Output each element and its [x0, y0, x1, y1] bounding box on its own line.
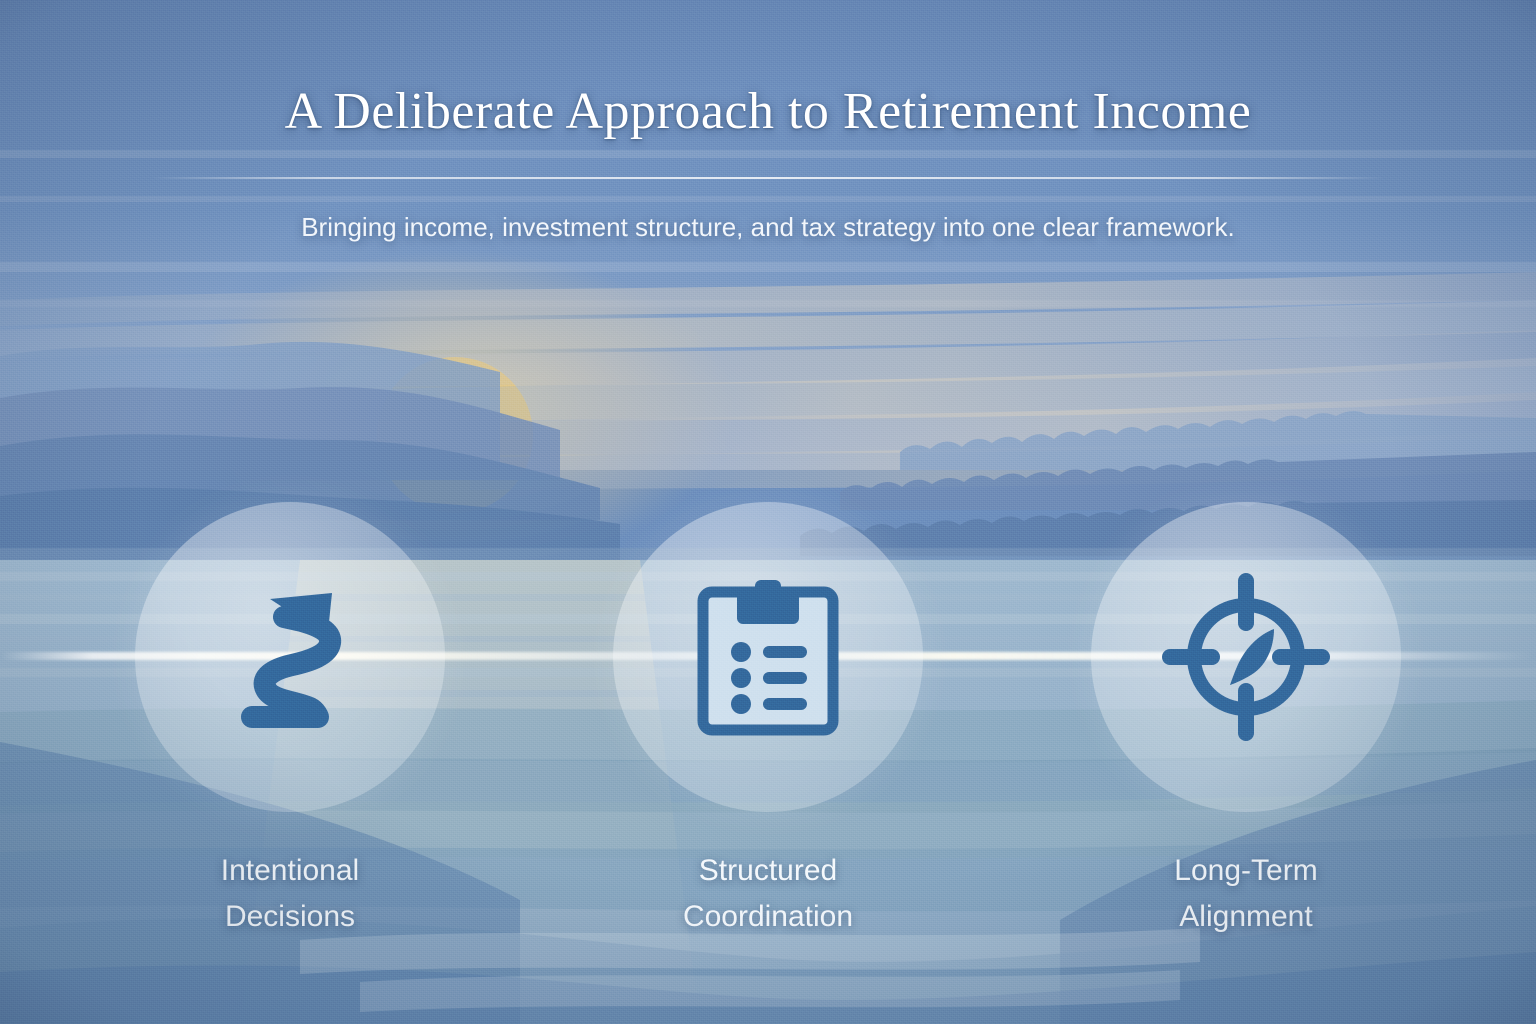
pillar-label: Long-Term Alignment	[1174, 848, 1317, 939]
pillar-structured-coordination[interactable]: Structured Coordination	[612, 502, 924, 939]
pillar-icon-disc	[1091, 502, 1401, 812]
pillar-intentional-decisions[interactable]: Intentional Decisions	[134, 502, 446, 939]
pillar-icon-disc	[613, 502, 923, 812]
title-divider	[152, 177, 1384, 179]
compass-target-icon	[1162, 573, 1330, 741]
poster-canvas: A Deliberate Approach to Retirement Inco…	[0, 0, 1536, 1024]
pillar-label: Intentional Decisions	[221, 848, 359, 939]
winding-path-arrow-icon	[210, 577, 370, 737]
clipboard-checklist-icon	[693, 578, 843, 736]
pillar-icon-disc	[135, 502, 445, 812]
pillar-long-term-alignment[interactable]: Long-Term Alignment	[1090, 502, 1402, 939]
page-subtitle: Bringing income, investment structure, a…	[0, 212, 1536, 243]
pillar-row: Intentional Decisions Structured Coordin…	[0, 502, 1536, 939]
page-title: A Deliberate Approach to Retirement Inco…	[0, 82, 1536, 141]
pillar-label: Structured Coordination	[683, 848, 853, 939]
